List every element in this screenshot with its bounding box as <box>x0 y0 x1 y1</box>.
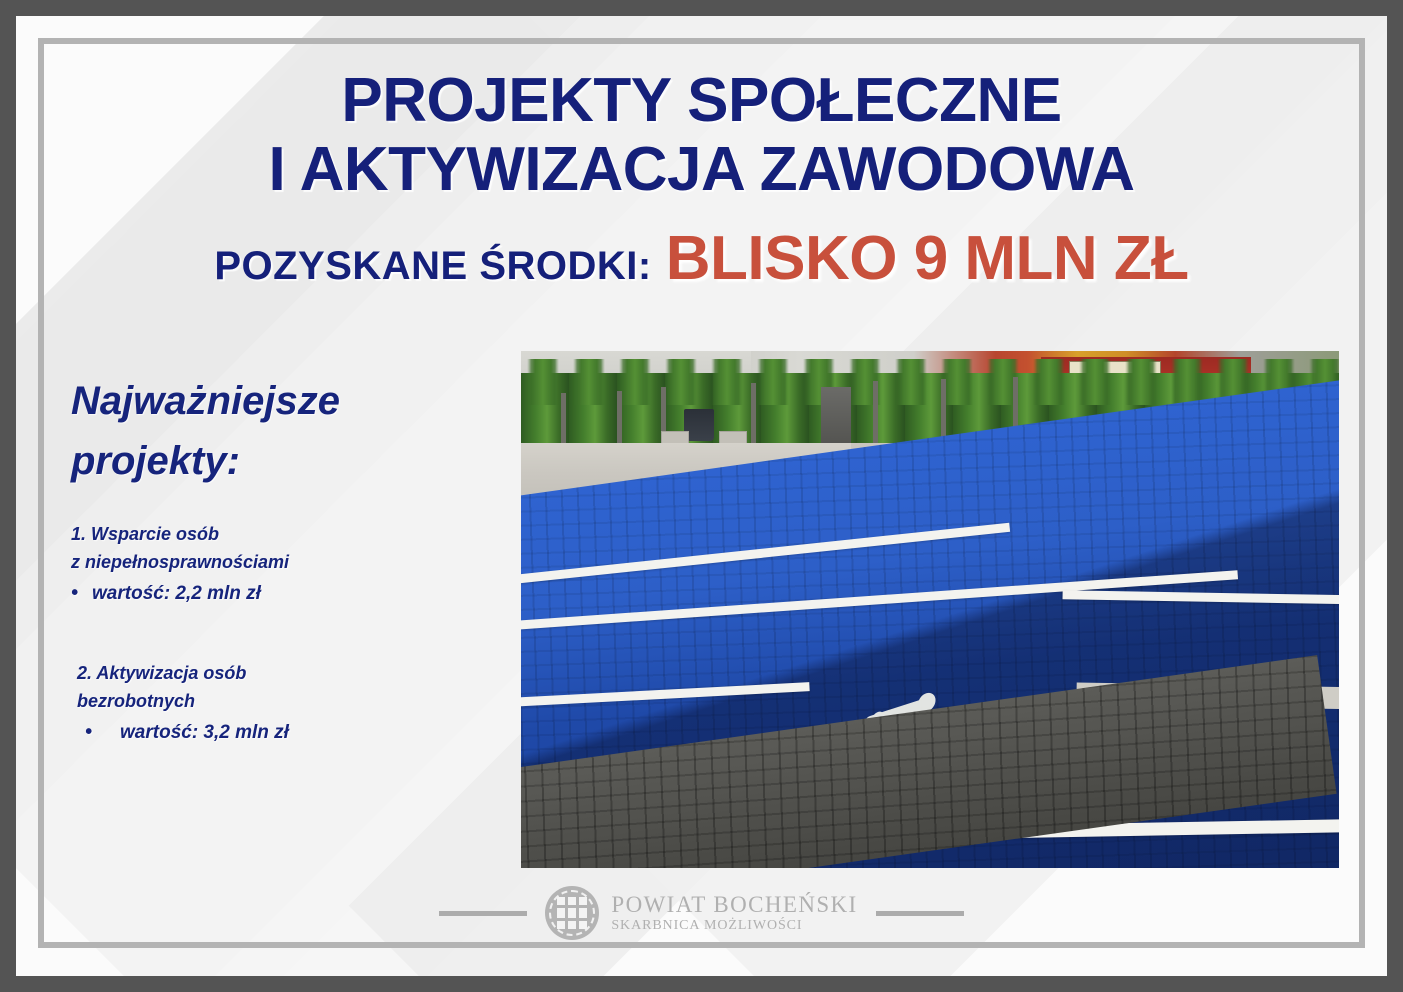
county-logo: POWIAT BOCHEŃSKI SKARBNICA MOŻLIWOŚCI <box>545 886 857 940</box>
funding-subtitle: POZYSKANE ŚRODKI: BLISKO 9 MLN ZŁ <box>16 223 1387 294</box>
logo-text: POWIAT BOCHEŃSKI SKARBNICA MOŻLIWOŚCI <box>611 892 857 933</box>
logo-tagline: SKARBNICA MOŻLIWOŚCI <box>611 918 857 934</box>
projects-column: Najważniejsze projekty: 1. Wsparcie osób… <box>71 371 491 744</box>
seal-cell <box>568 897 576 905</box>
funding-amount: BLISKO 9 MLN ZŁ <box>666 223 1189 294</box>
photo-stake <box>617 391 622 451</box>
logo-name: POWIAT BOCHEŃSKI <box>611 892 857 918</box>
seal-cell <box>557 897 565 905</box>
project-title: 1. Wsparcie osób z niepełnosprawnościami <box>71 521 491 577</box>
parking-photo: APTEKA <box>521 351 1339 868</box>
seal-cell <box>557 921 565 929</box>
seal-cell <box>579 921 587 929</box>
seal-cell <box>568 921 576 929</box>
project-value-text: wartość: 3,2 mln zł <box>120 722 289 744</box>
photo-content: APTEKA <box>521 351 1339 868</box>
slide-canvas: PROJEKTY SPOŁECZNE I AKTYWIZACJA ZAWODOW… <box>16 16 1387 976</box>
footer-divider-right <box>876 911 964 916</box>
list-item: 1. Wsparcie osób z niepełnosprawnościami… <box>71 521 491 605</box>
headline-block: PROJEKTY SPOŁECZNE I AKTYWIZACJA ZAWODOW… <box>16 66 1387 294</box>
seal-cell <box>579 897 587 905</box>
footer-divider-left <box>439 911 527 916</box>
list-item: 2. Aktywizacja osób bezrobotnych • warto… <box>71 660 491 744</box>
seal-cell <box>568 908 576 918</box>
seal-cell <box>557 908 565 918</box>
project-value-text: wartość: 2,2 mln zł <box>92 583 261 605</box>
project-value-row: • wartość: 3,2 mln zł <box>71 722 491 744</box>
projects-list: 1. Wsparcie osób z niepełnosprawnościami… <box>71 521 491 744</box>
page-title-line-1: PROJEKTY SPOŁECZNE <box>16 66 1387 135</box>
slide-root: PROJEKTY SPOŁECZNE I AKTYWIZACJA ZAWODOW… <box>0 0 1403 992</box>
project-value-row: • wartość: 2,2 mln zł <box>71 583 491 605</box>
seal-grid <box>557 897 587 929</box>
bullet-icon: • <box>85 722 92 742</box>
page-title-line-2: I AKTYWIZACJA ZAWODOWA <box>16 135 1387 204</box>
projects-heading: Najważniejsze projekty: <box>71 371 491 491</box>
bullet-icon: • <box>71 583 78 603</box>
seal-cell <box>579 908 587 918</box>
coat-of-arms-seal-icon <box>545 886 599 940</box>
project-title: 2. Aktywizacja osób bezrobotnych <box>71 660 491 716</box>
footer: POWIAT BOCHEŃSKI SKARBNICA MOŻLIWOŚCI <box>16 886 1387 940</box>
funding-label: POZYSKANE ŚRODKI: <box>214 244 651 289</box>
photo-stake <box>751 383 756 451</box>
